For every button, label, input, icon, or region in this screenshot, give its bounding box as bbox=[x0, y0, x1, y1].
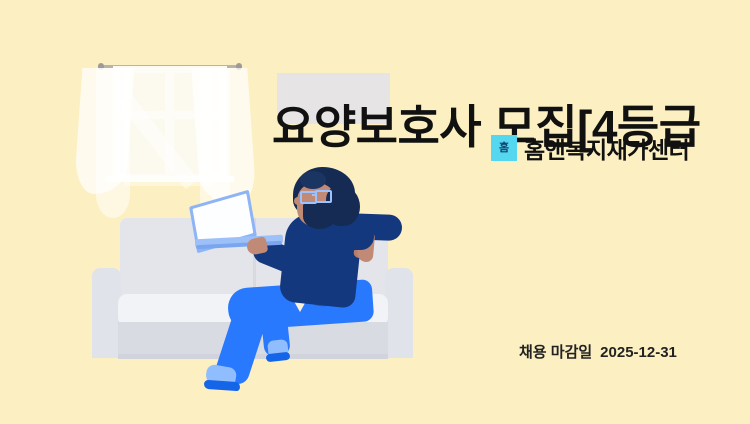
couch-armrest-right bbox=[385, 268, 413, 358]
deadline-date: 2025-12-31 bbox=[600, 344, 677, 361]
curtain-left-inner bbox=[96, 68, 130, 218]
organization-name: 홈앤복지재가센터 bbox=[524, 131, 689, 165]
organization-badge-icon: 홈 bbox=[491, 135, 517, 161]
person-shoe-front bbox=[204, 380, 241, 391]
glasses-lens-right-icon bbox=[315, 190, 332, 203]
glasses-bridge-icon bbox=[312, 194, 316, 196]
deadline-label: 채용 마감일 bbox=[519, 344, 592, 361]
person-shoe-back bbox=[266, 352, 291, 362]
person-hair-tuft bbox=[300, 171, 326, 189]
couch-armrest-left bbox=[92, 268, 121, 358]
organization-row: 홈 홈앤복지재가센터 bbox=[491, 131, 689, 165]
deadline-row: 채용 마감일2025-12-31 bbox=[519, 341, 677, 362]
job-posting-banner: 요양보호사 모집[4등급 홈 홈앤복지재가센터 채용 마감일2025-12-31 bbox=[0, 0, 750, 424]
